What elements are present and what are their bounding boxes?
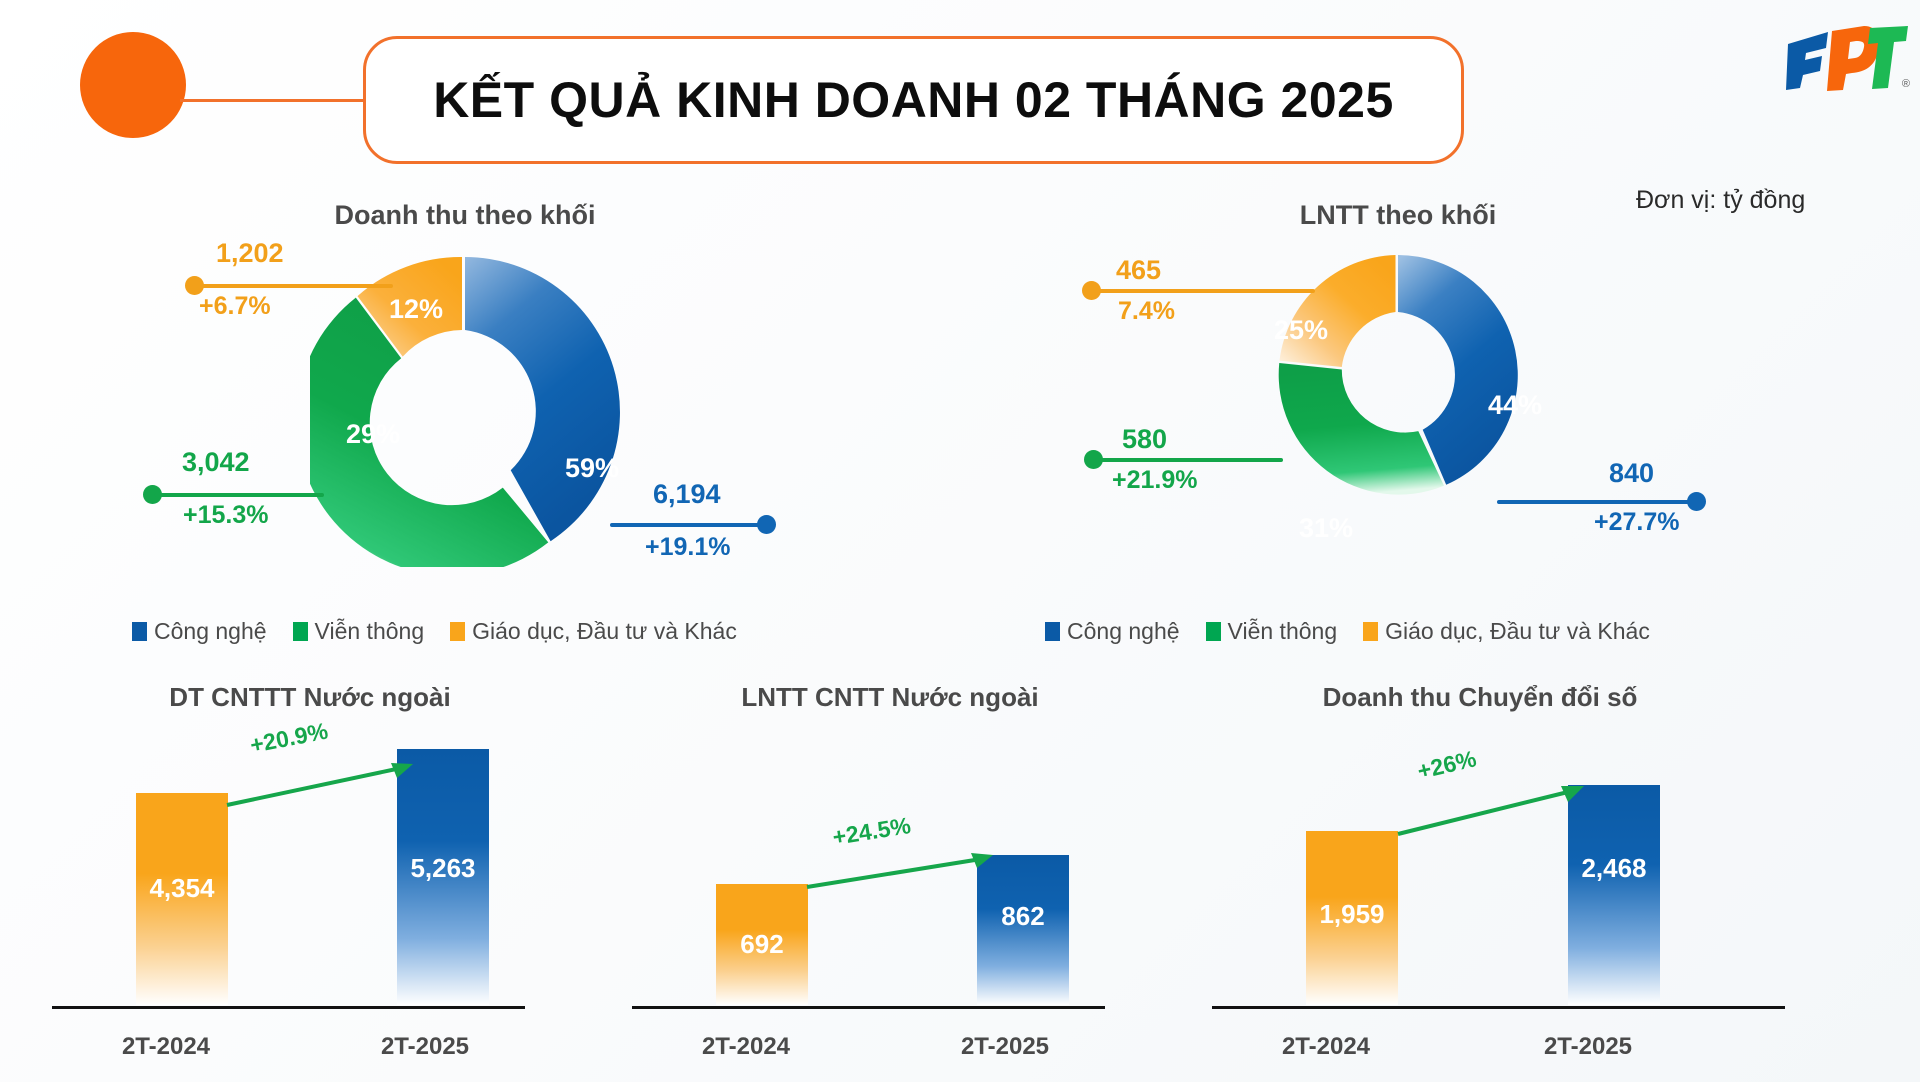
bar-value-2t-2025-dt: 5,263	[397, 853, 489, 884]
fpt-logo-svg	[1786, 26, 1908, 92]
donut-slice-vien-thong-2	[1279, 363, 1444, 495]
leader-line-cong-nghe-1	[610, 523, 765, 527]
page-title-box: KẾT QUẢ KINH DOANH 02 THÁNG 2025	[363, 36, 1464, 164]
legend-item-vien-thong-2: Viễn thông	[1206, 618, 1338, 645]
legend-swatch-orange-icon-2	[1363, 622, 1378, 641]
leader-line-vien-thong-1	[154, 493, 324, 497]
leader-growth-vien-thong-1: +15.3%	[183, 501, 269, 530]
bar-value-2t-2025-lntt: 862	[977, 901, 1069, 932]
legend-item-vien-thong-1: Viễn thông	[293, 618, 425, 645]
leader-dot-cong-nghe-1	[757, 515, 776, 534]
donut-label-cong-nghe-pct-2: 44%	[1488, 390, 1542, 421]
axis-label-2t-2025-dt: 2T-2025	[325, 1033, 525, 1061]
growth-label-cds: +26%	[1415, 745, 1479, 785]
growth-label-dt: +20.9%	[248, 717, 330, 759]
legend-label-cong-nghe-2: Công nghệ	[1067, 618, 1180, 645]
legend-revenue-by-block: Công nghệ Viễn thông Giáo dục, Đầu tư và…	[132, 618, 737, 645]
bar-value-2t-2024-cds: 1,959	[1306, 899, 1398, 930]
bar-chart-lntt-cntt-nuoc-ngoai: 692 862 +24.5%	[620, 740, 1160, 1005]
legend-swatch-green-icon-2	[1206, 622, 1221, 641]
logo-letter-f	[1786, 32, 1828, 90]
chart-title-lntt-cntt-nuoc-ngoai: LNTT CNTT Nước ngoài	[620, 682, 1160, 713]
registered-trademark-mark: ®	[1902, 78, 1910, 90]
donut-chart-revenue-by-block	[310, 257, 620, 567]
donut-label-giao-duc-pct-2: 25%	[1274, 315, 1328, 346]
chart-title-revenue-by-block: Doanh thu theo khối	[215, 200, 715, 231]
leader-value-cong-nghe-2: 840	[1609, 458, 1654, 489]
donut-label-vien-thong-pct-2: 31%	[1299, 513, 1353, 544]
legend-swatch-green-icon	[293, 622, 308, 641]
page-title: KẾT QUẢ KINH DOANH 02 THÁNG 2025	[433, 71, 1394, 129]
leader-line-vien-thong-2	[1095, 458, 1283, 462]
leader-growth-cong-nghe-2: +27.7%	[1594, 508, 1680, 537]
leader-dot-cong-nghe-2	[1687, 492, 1706, 511]
axis-label-2t-2024-dt: 2T-2024	[66, 1033, 266, 1061]
growth-arrow-dt	[225, 759, 415, 809]
axis-label-2t-2025-cds: 2T-2025	[1488, 1033, 1688, 1061]
unit-note: Đơn vị: tỷ đồng	[1636, 186, 1805, 215]
leader-growth-giao-duc-2: 7.4%	[1118, 297, 1175, 326]
growth-label-lntt: +24.5%	[831, 812, 913, 851]
leader-value-cong-nghe-1: 6,194	[653, 479, 721, 510]
legend-swatch-blue-icon-2	[1045, 622, 1060, 641]
axis-label-2t-2024-cds: 2T-2024	[1226, 1033, 1426, 1061]
bar-chart-dt-cnttt-nuoc-ngoai: 4,354 5,263 +20.9%	[40, 740, 580, 1005]
donut-slice-giao-duc-2	[1280, 255, 1396, 367]
growth-arrow-cds	[1396, 782, 1586, 840]
chart-title-profit-by-block: LNTT theo khối	[1148, 200, 1648, 231]
legend-label-vien-thong-1: Viễn thông	[315, 618, 425, 645]
bar-2t-2024-lntt: 692	[716, 884, 808, 1005]
chart-title-dt-cnttt-nuoc-ngoai: DT CNTTT Nước ngoài	[40, 682, 580, 713]
fpt-logo: ®	[1786, 26, 1908, 92]
legend-item-giao-duc-2: Giáo dục, Đầu tư và Khác	[1363, 618, 1650, 645]
leader-value-giao-duc-2: 465	[1116, 255, 1161, 286]
chart-title-doanh-thu-chuyen-doi-so: Doanh thu Chuyển đổi số	[1200, 682, 1760, 713]
leader-value-vien-thong-1: 3,042	[182, 447, 250, 478]
header-connector-line	[180, 99, 370, 102]
leader-value-vien-thong-2: 580	[1122, 424, 1167, 455]
bar-2t-2024-dt: 4,354	[136, 793, 228, 1005]
legend-label-giao-duc-1: Giáo dục, Đầu tư và Khác	[472, 618, 737, 645]
legend-item-cong-nghe-2: Công nghệ	[1045, 618, 1180, 645]
leader-line-cong-nghe-2	[1497, 500, 1695, 504]
leader-growth-cong-nghe-1: +19.1%	[645, 533, 731, 562]
axis-label-2t-2025-lntt: 2T-2025	[905, 1033, 1105, 1061]
bar-value-2t-2024-lntt: 692	[716, 929, 808, 960]
axis-label-2t-2024-lntt: 2T-2024	[646, 1033, 846, 1061]
legend-label-vien-thong-2: Viễn thông	[1228, 618, 1338, 645]
bar-value-2t-2025-cds: 2,468	[1568, 853, 1660, 884]
legend-item-giao-duc-1: Giáo dục, Đầu tư và Khác	[450, 618, 737, 645]
legend-label-giao-duc-2: Giáo dục, Đầu tư và Khác	[1385, 618, 1650, 645]
leader-line-giao-duc-1	[196, 284, 393, 288]
legend-label-cong-nghe-1: Công nghệ	[154, 618, 267, 645]
header-accent-circle	[80, 32, 186, 138]
axis-line-lntt	[632, 1006, 1105, 1009]
axis-line-dt	[52, 1006, 525, 1009]
donut-label-vien-thong-pct: 29%	[346, 419, 400, 450]
legend-profit-by-block: Công nghệ Viễn thông Giáo dục, Đầu tư và…	[1045, 618, 1650, 645]
bar-2t-2024-cds: 1,959	[1306, 831, 1398, 1005]
axis-line-cds	[1212, 1006, 1785, 1009]
legend-swatch-orange-icon	[450, 622, 465, 641]
leader-value-giao-duc-1: 1,202	[216, 238, 284, 269]
donut-label-giao-duc-pct: 12%	[389, 294, 443, 325]
leader-growth-vien-thong-2: +21.9%	[1112, 466, 1198, 495]
leader-growth-giao-duc-1: +6.7%	[199, 292, 271, 321]
legend-swatch-blue-icon	[132, 622, 147, 641]
growth-arrow-lntt	[805, 850, 995, 898]
leader-line-giao-duc-2	[1093, 289, 1315, 293]
bar-value-2t-2024-dt: 4,354	[136, 873, 228, 904]
donut-label-cong-nghe-pct: 59%	[565, 453, 619, 484]
bar-chart-doanh-thu-chuyen-doi-so: 1,959 2,468 +26%	[1200, 740, 1760, 1005]
legend-item-cong-nghe-1: Công nghệ	[132, 618, 267, 645]
